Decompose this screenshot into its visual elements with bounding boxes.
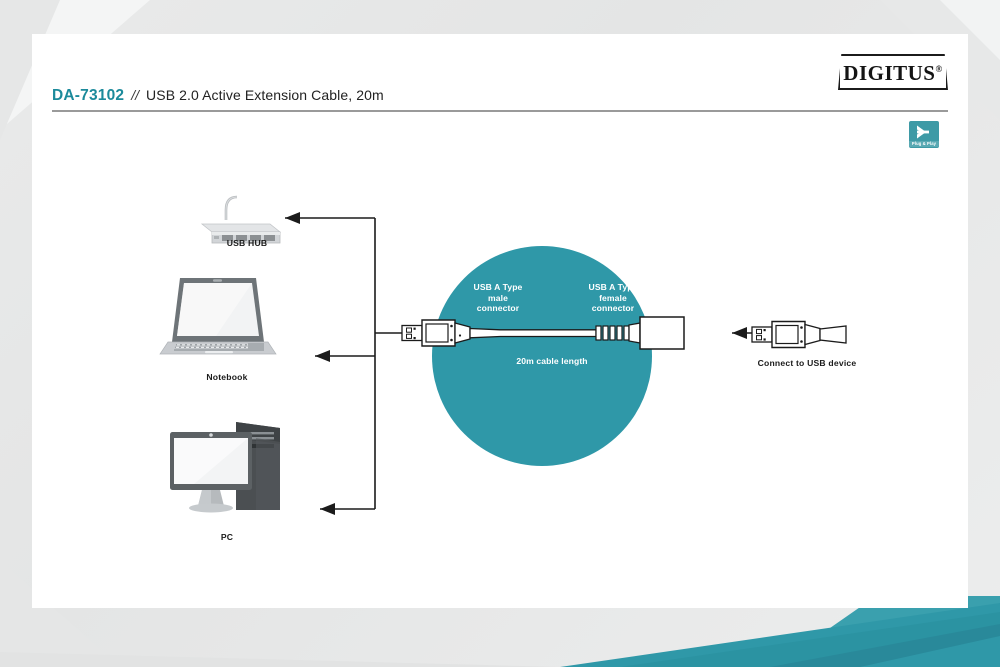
extension-cable-illustration: [400, 316, 670, 356]
female-connector-label-line-2: female: [567, 293, 659, 304]
arrow-to-female-connector: [732, 327, 747, 339]
pc-label: PC: [187, 532, 267, 542]
female-connector-label: USB A Type female connector: [567, 282, 659, 314]
pc-icon: [164, 414, 294, 529]
plug-and-play-label: Plug & Play: [909, 141, 939, 147]
female-connector-label-line-1: USB A Type: [567, 282, 659, 293]
content-card: DIGITUS® DA-73102 // USB 2.0 Active Exte…: [32, 34, 968, 608]
male-connector-label-line-2: male: [452, 293, 544, 304]
notebook-label: Notebook: [182, 372, 272, 382]
usb-hub-label: USB HUB: [202, 238, 292, 248]
chevron-right-icon: [913, 124, 935, 140]
usb-device-plug-icon: [750, 318, 860, 354]
male-connector-label: USB A Type male connector: [452, 282, 544, 314]
arrow-to-pc: [320, 503, 335, 515]
female-connector-label-line-3: connector: [567, 303, 659, 314]
connect-to-usb-device-label: Connect to USB device: [732, 358, 882, 368]
cable-length-label: 20m cable length: [472, 356, 632, 367]
page-root: DIGITUS® DA-73102 // USB 2.0 Active Exte…: [0, 0, 1000, 667]
arrow-to-notebook: [315, 350, 330, 362]
notebook-icon: [164, 274, 284, 366]
plug-and-play-badge: Plug & Play: [909, 121, 939, 148]
male-connector-label-line-1: USB A Type: [452, 282, 544, 293]
male-connector-label-line-3: connector: [452, 303, 544, 314]
product-diagram: USB HUB: [32, 34, 968, 608]
